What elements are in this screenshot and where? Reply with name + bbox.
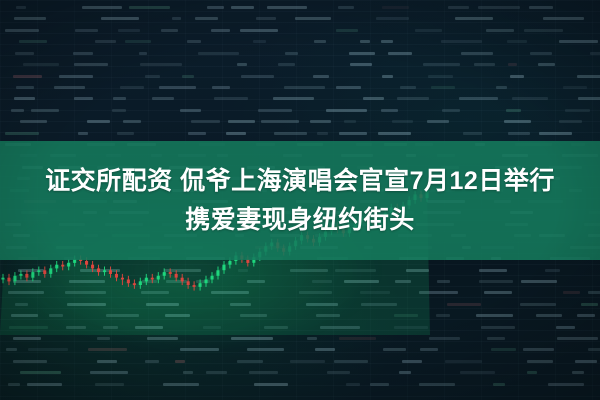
headline-line-1: 证交所配资 侃爷上海演唱会官宣7月12日举行 bbox=[45, 163, 555, 200]
headline-line-2: 携爱妻现身纽约街头 bbox=[185, 202, 415, 239]
headline: 证交所配资 侃爷上海演唱会官宣7月12日举行 携爱妻现身纽约街头 bbox=[0, 141, 600, 260]
news-thumbnail-card: 证交所配资 侃爷上海演唱会官宣7月12日举行 携爱妻现身纽约街头 bbox=[0, 0, 600, 400]
